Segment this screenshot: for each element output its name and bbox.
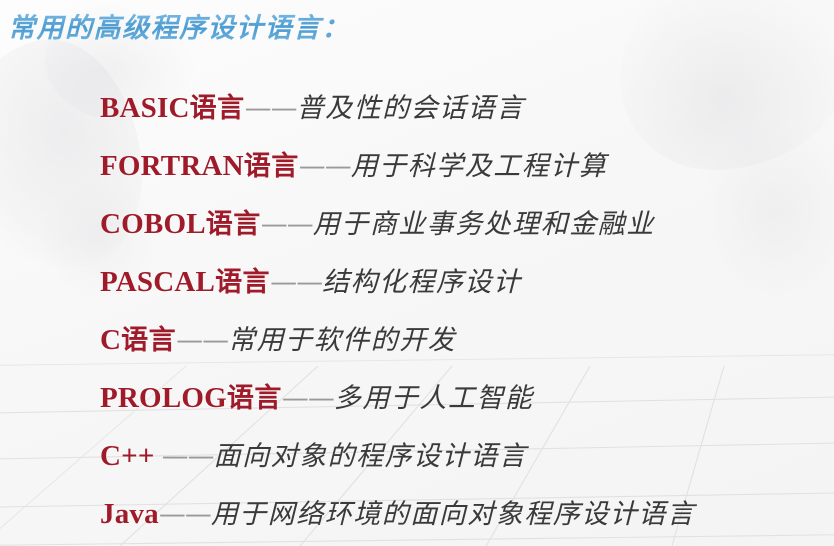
list-item: Java——用于网络环境的面向对象程序设计语言 [100,485,834,543]
list-item: C语言——常用于软件的开发 [100,311,834,369]
language-name: BASIC [100,92,190,124]
language-description: 面向对象的程序设计语言 [214,441,528,472]
list-item: C++——面向对象的程序设计语言 [100,427,834,485]
list-item: FORTRAN语言——用于科学及工程计算 [100,137,834,195]
list-item: BASIC语言——普及性的会话语言 [100,79,834,137]
language-suffix: 语言 [206,209,261,240]
page-title: 常用的高级程序设计语言： [8,11,350,47]
language-suffix: 语言 [121,325,176,356]
language-description: 用于科学及工程计算 [351,151,608,182]
language-list: BASIC语言——普及性的会话语言 FORTRAN语言——用于科学及工程计算 C… [100,79,834,543]
em-dash-separator: —— [261,209,313,240]
language-description: 用于商业事务处理和金融业 [313,209,655,240]
language-suffix: 语言 [227,383,282,414]
language-name: C [100,324,121,356]
em-dash-separator: —— [270,267,322,298]
em-dash-separator: —— [162,441,214,472]
em-dash-separator: —— [176,325,228,356]
list-item: COBOL语言——用于商业事务处理和金融业 [100,195,834,253]
language-name: Java [100,498,159,530]
em-dash-separator: —— [245,93,297,124]
list-item: PROLOG语言——多用于人工智能 [100,369,834,427]
language-suffix: 语言 [244,151,299,182]
language-name: PASCAL [100,266,215,298]
slide-content: 常用的高级程序设计语言： BASIC语言——普及性的会话语言 FORTRAN语言… [0,0,834,546]
language-name: COBOL [100,208,206,240]
language-description: 结构化程序设计 [322,267,522,298]
language-suffix: 语言 [190,93,245,124]
language-description: 多用于人工智能 [334,383,534,414]
em-dash-separator: —— [282,383,334,414]
language-description: 普及性的会话语言 [297,93,525,124]
em-dash-separator: —— [159,499,211,530]
language-description: 用于网络环境的面向对象程序设计语言 [211,499,696,530]
presentation-slide: 常用的高级程序设计语言： BASIC语言——普及性的会话语言 FORTRAN语言… [0,0,834,546]
language-suffix: 语言 [215,267,270,298]
em-dash-separator: —— [299,151,351,182]
language-name: PROLOG [100,382,227,414]
language-description: 常用于软件的开发 [228,325,456,356]
list-item: PASCAL语言——结构化程序设计 [100,253,834,311]
language-name: FORTRAN [100,150,244,182]
language-name: C++ [100,440,155,472]
